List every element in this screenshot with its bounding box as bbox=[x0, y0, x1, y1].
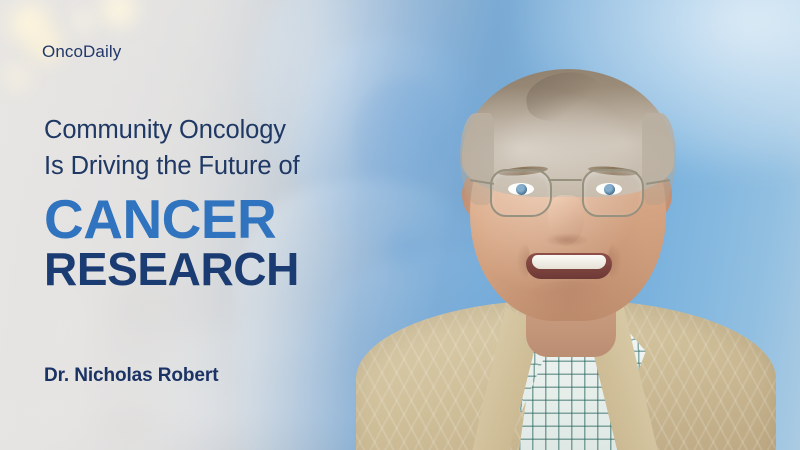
headline-cancer: CANCER bbox=[44, 190, 404, 248]
bokeh-light-5 bbox=[0, 60, 34, 94]
headline-line-1: Community Oncology bbox=[44, 112, 404, 148]
glasses-lens-right bbox=[582, 169, 644, 217]
promo-banner: OncoDaily Community Oncology Is Driving … bbox=[0, 0, 800, 450]
portrait-sideburn-left bbox=[460, 113, 494, 205]
glasses-lens-left bbox=[490, 169, 552, 217]
headline-line-2: Is Driving the Future of bbox=[44, 148, 404, 184]
portrait-nose-shadow bbox=[544, 233, 590, 247]
headline-block: Community Oncology Is Driving the Future… bbox=[44, 112, 404, 294]
glasses-bridge bbox=[548, 179, 582, 181]
portrait-chin bbox=[526, 281, 612, 311]
headline-research: RESEARCH bbox=[44, 244, 404, 294]
bokeh-light-4 bbox=[70, 8, 96, 34]
speaker-name: Dr. Nicholas Robert bbox=[44, 365, 218, 387]
portrait-teeth bbox=[532, 255, 606, 269]
oncodaily-logo[interactable]: OncoDaily bbox=[42, 42, 121, 62]
